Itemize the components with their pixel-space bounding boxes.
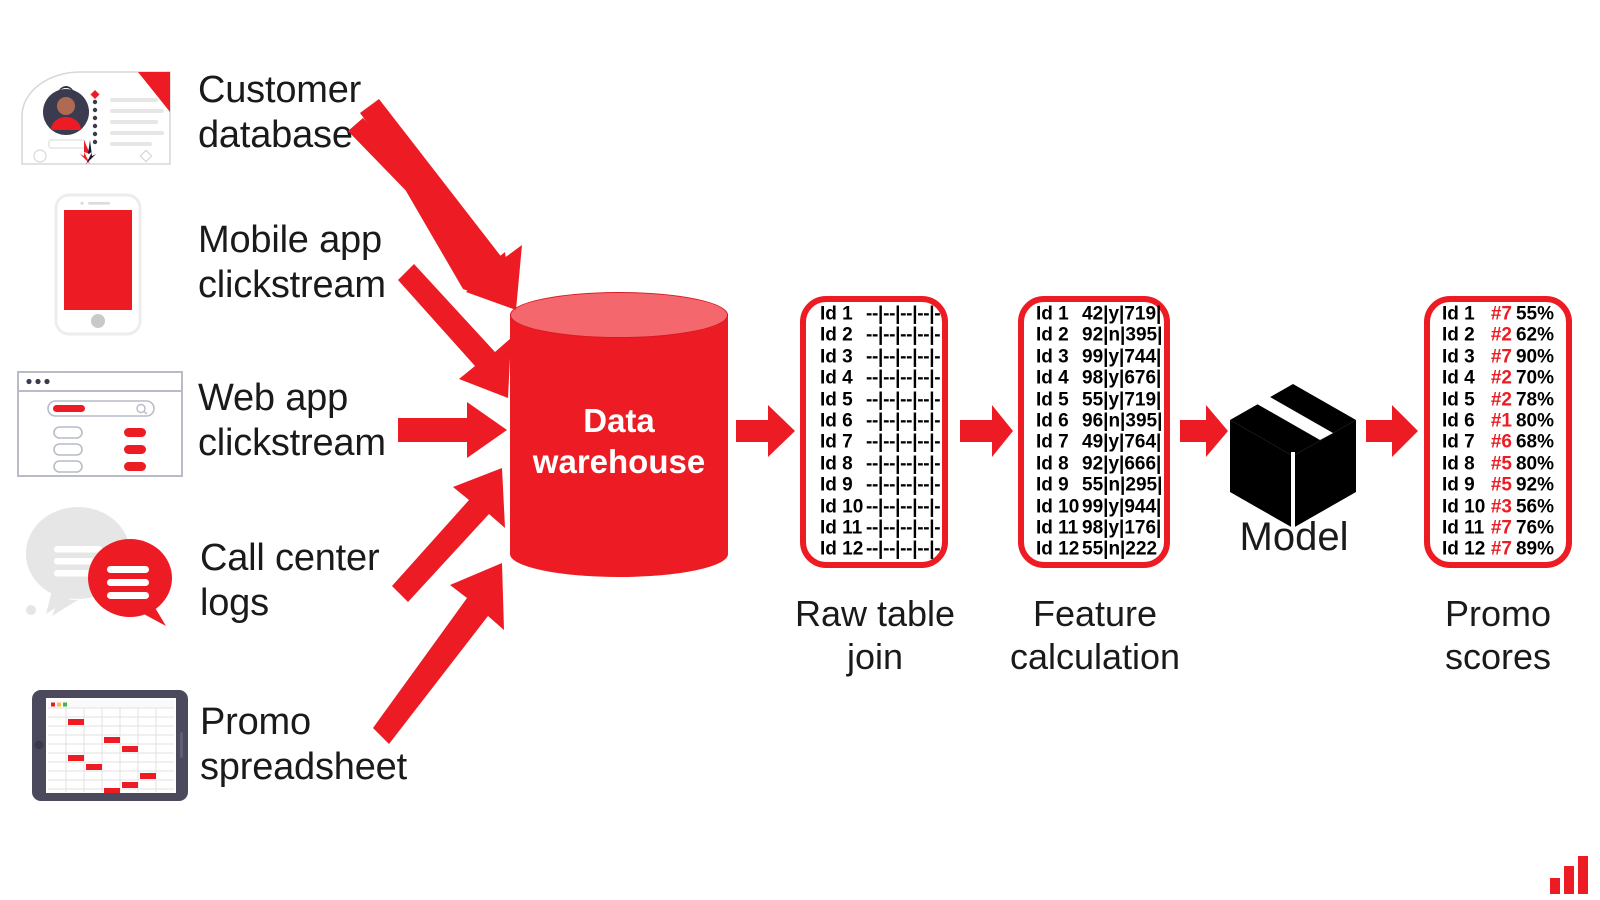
- row-value: --|--|--|--|-: [866, 346, 928, 367]
- table-row: Id 292|n|395|: [1036, 325, 1152, 346]
- row-score: 56%: [1512, 496, 1554, 517]
- row-score: 92%: [1512, 475, 1554, 496]
- row-value: --|--|--|--|-: [866, 411, 928, 432]
- table-row: Id 10#356%: [1442, 496, 1554, 517]
- row-features: 96|n|395|: [1082, 411, 1152, 432]
- row-features: 55|y|719|: [1082, 389, 1152, 410]
- model-label: Model: [1188, 515, 1400, 560]
- table-row: Id 5#278%: [1442, 389, 1554, 410]
- table-row: Id 7#668%: [1442, 432, 1554, 453]
- row-id: Id 8: [1442, 453, 1486, 474]
- row-value: --|--|--|--|-: [866, 432, 928, 453]
- row-score: 90%: [1512, 346, 1554, 367]
- table-row: Id 5--|--|--|--|-: [820, 389, 928, 410]
- row-id: Id 1: [1442, 304, 1486, 325]
- row-id: Id 1: [1036, 304, 1082, 325]
- table-row: Id 9--|--|--|--|-: [820, 475, 928, 496]
- row-id: Id 8: [1036, 453, 1082, 474]
- row-rank: #7: [1486, 304, 1512, 325]
- stage-card-feature-calculation: Id 142|y|719|Id 292|n|395|Id 399|y|744|I…: [1018, 296, 1170, 568]
- table-row: Id 12--|--|--|--|-: [820, 539, 928, 560]
- row-features: 98|y|176|: [1082, 518, 1152, 539]
- browser-window-icon: [16, 370, 186, 480]
- table-row: Id 1198|y|176|: [1036, 518, 1152, 539]
- row-id: Id 5: [1036, 389, 1082, 410]
- table-row: Id 6#180%: [1442, 411, 1554, 432]
- table-row: Id 2--|--|--|--|-: [820, 325, 928, 346]
- table-row: Id 555|y|719|: [1036, 389, 1152, 410]
- row-id: Id 11: [1442, 518, 1486, 539]
- row-id: Id 2: [820, 325, 866, 346]
- tablet-spreadsheet-icon: [30, 688, 190, 803]
- row-features: 55|n|222: [1082, 539, 1152, 560]
- table-row: Id 1#755%: [1442, 304, 1554, 325]
- row-features: 92|y|666|: [1082, 453, 1152, 474]
- stage-caption-feature-calculation: Feature calculation: [974, 592, 1216, 678]
- table-row: Id 7--|--|--|--|-: [820, 432, 928, 453]
- row-id: Id 9: [1036, 475, 1082, 496]
- row-id: Id 3: [1442, 346, 1486, 367]
- bar-chart-logo: [1548, 854, 1592, 894]
- row-rank: #6: [1486, 432, 1512, 453]
- row-rank: #1: [1486, 411, 1512, 432]
- feature-table-rows: Id 142|y|719|Id 292|n|395|Id 399|y|744|I…: [1024, 304, 1164, 561]
- source-icon-customer-database: [18, 68, 178, 168]
- row-id: Id 3: [1036, 346, 1082, 367]
- table-row: Id 4#270%: [1442, 368, 1554, 389]
- table-row: Id 4--|--|--|--|-: [820, 368, 928, 389]
- row-id: Id 4: [1442, 368, 1486, 389]
- black-box-cube-icon: [1228, 382, 1358, 530]
- arrow-raw-to-feature: [960, 405, 1013, 457]
- table-row: Id 955|n|295|: [1036, 475, 1152, 496]
- data-warehouse-cylinder: Data warehouse: [510, 292, 728, 577]
- row-features: 49|y|764|: [1082, 432, 1152, 453]
- row-id: Id 3: [820, 346, 866, 367]
- row-score: 62%: [1512, 325, 1554, 346]
- row-value: --|--|--|--|-: [866, 518, 928, 539]
- promo-table-rows: Id 1#755%Id 2#262%Id 3#790%Id 4#270%Id 5…: [1430, 304, 1566, 561]
- row-id: Id 10: [1036, 496, 1082, 517]
- row-features: 99|y|744|: [1082, 346, 1152, 367]
- row-id: Id 7: [820, 432, 866, 453]
- row-id: Id 10: [1442, 496, 1486, 517]
- table-row: Id 1099|y|944|: [1036, 496, 1152, 517]
- row-rank: #7: [1486, 539, 1512, 560]
- source-label-promo-spreadsheet: Promo spreadsheet: [200, 700, 510, 790]
- row-score: 68%: [1512, 432, 1554, 453]
- source-icon-promo-spreadsheet: [30, 688, 190, 803]
- row-id: Id 9: [1442, 475, 1486, 496]
- row-id: Id 5: [1442, 389, 1486, 410]
- row-score: 76%: [1512, 518, 1554, 539]
- table-row: Id 749|y|764|: [1036, 432, 1152, 453]
- data-warehouse-label: Data warehouse: [510, 400, 728, 482]
- smartphone-icon: [48, 192, 148, 337]
- row-value: --|--|--|--|-: [866, 368, 928, 389]
- table-row: Id 2#262%: [1442, 325, 1554, 346]
- row-rank: #2: [1486, 325, 1512, 346]
- table-row: Id 696|n|395|: [1036, 411, 1152, 432]
- source-label-customer-database: Customer database: [198, 68, 458, 158]
- row-id: Id 12: [1442, 539, 1486, 560]
- source-label-web-app: Web app clickstream: [198, 376, 478, 466]
- row-id: Id 6: [1442, 411, 1486, 432]
- row-id: Id 10: [820, 496, 866, 517]
- row-id: Id 11: [820, 518, 866, 539]
- row-score: 78%: [1512, 389, 1554, 410]
- table-row: Id 1--|--|--|--|-: [820, 304, 928, 325]
- row-id: Id 4: [820, 368, 866, 389]
- source-icon-web-app: [16, 370, 186, 480]
- row-id: Id 6: [820, 411, 866, 432]
- table-row: Id 12#789%: [1442, 539, 1554, 560]
- row-value: --|--|--|--|-: [866, 453, 928, 474]
- row-score: 80%: [1512, 411, 1554, 432]
- row-score: 80%: [1512, 453, 1554, 474]
- row-rank: #7: [1486, 518, 1512, 539]
- table-row: Id 1255|n|222: [1036, 539, 1152, 560]
- row-id: Id 2: [1442, 325, 1486, 346]
- customer-profile-card-icon: [18, 68, 178, 168]
- row-features: 92|n|395|: [1082, 325, 1152, 346]
- row-features: 99|y|944|: [1082, 496, 1152, 517]
- table-row: Id 142|y|719|: [1036, 304, 1152, 325]
- chat-bubbles-icon: [12, 498, 187, 628]
- row-value: --|--|--|--|-: [866, 325, 928, 346]
- row-id: Id 12: [820, 539, 866, 560]
- row-id: Id 5: [820, 389, 866, 410]
- table-row: Id 8--|--|--|--|-: [820, 453, 928, 474]
- row-value: --|--|--|--|-: [866, 389, 928, 410]
- row-id: Id 4: [1036, 368, 1082, 389]
- table-row: Id 3#790%: [1442, 346, 1554, 367]
- row-rank: #5: [1486, 453, 1512, 474]
- table-row: Id 3--|--|--|--|-: [820, 346, 928, 367]
- row-value: --|--|--|--|-: [866, 475, 928, 496]
- row-score: 55%: [1512, 304, 1554, 325]
- table-row: Id 6--|--|--|--|-: [820, 411, 928, 432]
- arrow-warehouse-to-raw: [736, 405, 795, 457]
- row-value: --|--|--|--|-: [866, 304, 928, 325]
- stage-caption-raw-table-join: Raw table join: [760, 592, 990, 678]
- row-score: 89%: [1512, 539, 1554, 560]
- row-id: Id 1: [820, 304, 866, 325]
- row-features: 98|y|676|: [1082, 368, 1152, 389]
- row-id: Id 8: [820, 453, 866, 474]
- stage-card-promo-scores: Id 1#755%Id 2#262%Id 3#790%Id 4#270%Id 5…: [1424, 296, 1572, 568]
- row-rank: #7: [1486, 346, 1512, 367]
- raw-table-rows: Id 1--|--|--|--|-Id 2--|--|--|--|-Id 3--…: [806, 304, 942, 561]
- source-icon-mobile-app: [48, 192, 148, 337]
- stage-caption-promo-scores: Promo scores: [1388, 592, 1600, 678]
- row-value: --|--|--|--|-: [866, 496, 928, 517]
- row-rank: #2: [1486, 368, 1512, 389]
- arrow-model-to-promo: [1366, 405, 1418, 457]
- cylinder-top: [510, 292, 728, 338]
- stage-card-raw-table-join: Id 1--|--|--|--|-Id 2--|--|--|--|-Id 3--…: [800, 296, 948, 568]
- row-id: Id 9: [820, 475, 866, 496]
- table-row: Id 498|y|676|: [1036, 368, 1152, 389]
- row-rank: #3: [1486, 496, 1512, 517]
- table-row: Id 892|y|666|: [1036, 453, 1152, 474]
- row-features: 55|n|295|: [1082, 475, 1152, 496]
- source-label-mobile-app: Mobile app clickstream: [198, 218, 478, 308]
- corner-logo: [1548, 854, 1592, 894]
- row-id: Id 12: [1036, 539, 1082, 560]
- arrow-feature-to-model: [1180, 405, 1228, 457]
- row-rank: #5: [1486, 475, 1512, 496]
- source-label-call-center: Call center logs: [200, 536, 490, 626]
- source-icon-call-center: [12, 498, 187, 628]
- table-row: Id 8#580%: [1442, 453, 1554, 474]
- row-id: Id 11: [1036, 518, 1082, 539]
- table-row: Id 11#776%: [1442, 518, 1554, 539]
- table-row: Id 11--|--|--|--|-: [820, 518, 928, 539]
- row-id: Id 2: [1036, 325, 1082, 346]
- table-row: Id 9#592%: [1442, 475, 1554, 496]
- row-features: 42|y|719|: [1082, 304, 1152, 325]
- row-rank: #2: [1486, 389, 1512, 410]
- row-id: Id 6: [1036, 411, 1082, 432]
- row-id: Id 7: [1442, 432, 1486, 453]
- table-row: Id 10--|--|--|--|-: [820, 496, 928, 517]
- model-cube: [1228, 382, 1358, 530]
- row-id: Id 7: [1036, 432, 1082, 453]
- row-score: 70%: [1512, 368, 1554, 389]
- table-row: Id 399|y|744|: [1036, 346, 1152, 367]
- row-value: --|--|--|--|-: [866, 539, 928, 560]
